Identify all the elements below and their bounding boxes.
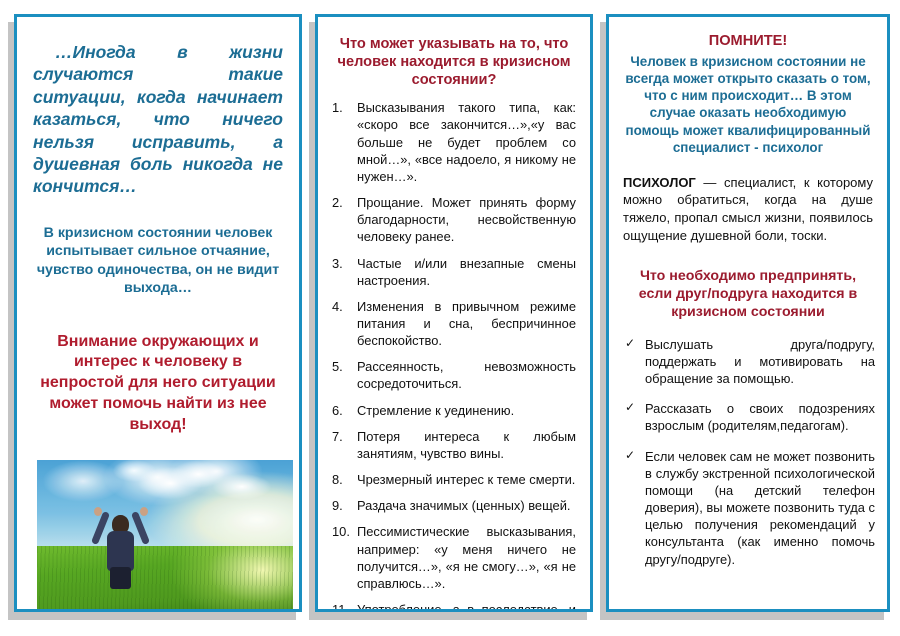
list-item: Изменения в привычном режиме питания и с… — [330, 298, 576, 349]
psychologist-term: ПСИХОЛОГ — [623, 175, 696, 190]
list-item: Употребление, а в последствие, и злоупот… — [330, 601, 576, 612]
psychologist-definition: ПСИХОЛОГ — специалист, к которому можно … — [623, 174, 873, 244]
panel-right: ПОМНИТЕ! Человек в кризисном состоянии н… — [606, 14, 890, 612]
actions-list: Выслушать друга/подругу, поддержать и мо… — [621, 336, 875, 568]
attention-note: Внимание окружающих и интерес к человеку… — [33, 332, 283, 436]
list-item: Высказывания такого типа, как: «скоро вс… — [330, 99, 576, 185]
list-item: Прощание. Может принять форму благодарно… — [330, 194, 576, 245]
signs-heading: Что может указывать на то, что человек н… — [334, 35, 574, 89]
clouds-layer — [37, 460, 293, 549]
photo-wrapper — [37, 460, 281, 612]
remember-title: ПОМНИТЕ! — [621, 33, 875, 49]
brochure-page: …Иногда в жизни случаются такие ситуации… — [0, 0, 900, 636]
grass-texture — [37, 546, 293, 612]
list-item: Стремление к уединению. — [330, 402, 576, 419]
list-item: Раздача значимых (ценных) вещей. — [330, 497, 576, 514]
panel-left: …Иногда в жизни случаются такие ситуации… — [14, 14, 302, 612]
actions-heading: Что необходимо предпринять, если друг/по… — [623, 268, 873, 322]
person-silhouette — [98, 509, 144, 587]
list-item: Выслушать друга/подругу, поддержать и мо… — [621, 336, 875, 387]
signs-list: Высказывания такого типа, как: «скоро вс… — [330, 99, 578, 612]
person-torso — [107, 531, 134, 571]
list-item: Рассказать о своих подозрениях взрослым … — [621, 400, 875, 434]
lead-quote: …Иногда в жизни случаются такие ситуации… — [33, 41, 283, 198]
panel-middle: Что может указывать на то, что человек н… — [315, 14, 593, 612]
list-item: Частые и/или внезапные смены настроения. — [330, 255, 576, 289]
list-item: Если человек сам не может позвонить в сл… — [621, 448, 875, 568]
list-item: Пессимистические высказывания, например:… — [330, 523, 576, 592]
hero-photo — [37, 460, 293, 612]
person-legs — [110, 567, 131, 589]
list-item: Потеря интереса к любым занятиям, чувств… — [330, 428, 576, 462]
list-item: Рассеянность, невозможность сосредоточит… — [330, 358, 576, 392]
remember-body: Человек в кризисном состоянии не всегда … — [623, 53, 873, 156]
crisis-state-note: В кризисном состоянии человек испытывает… — [31, 224, 285, 298]
list-item: Чрезмерный интерес к теме смерти. — [330, 471, 576, 488]
